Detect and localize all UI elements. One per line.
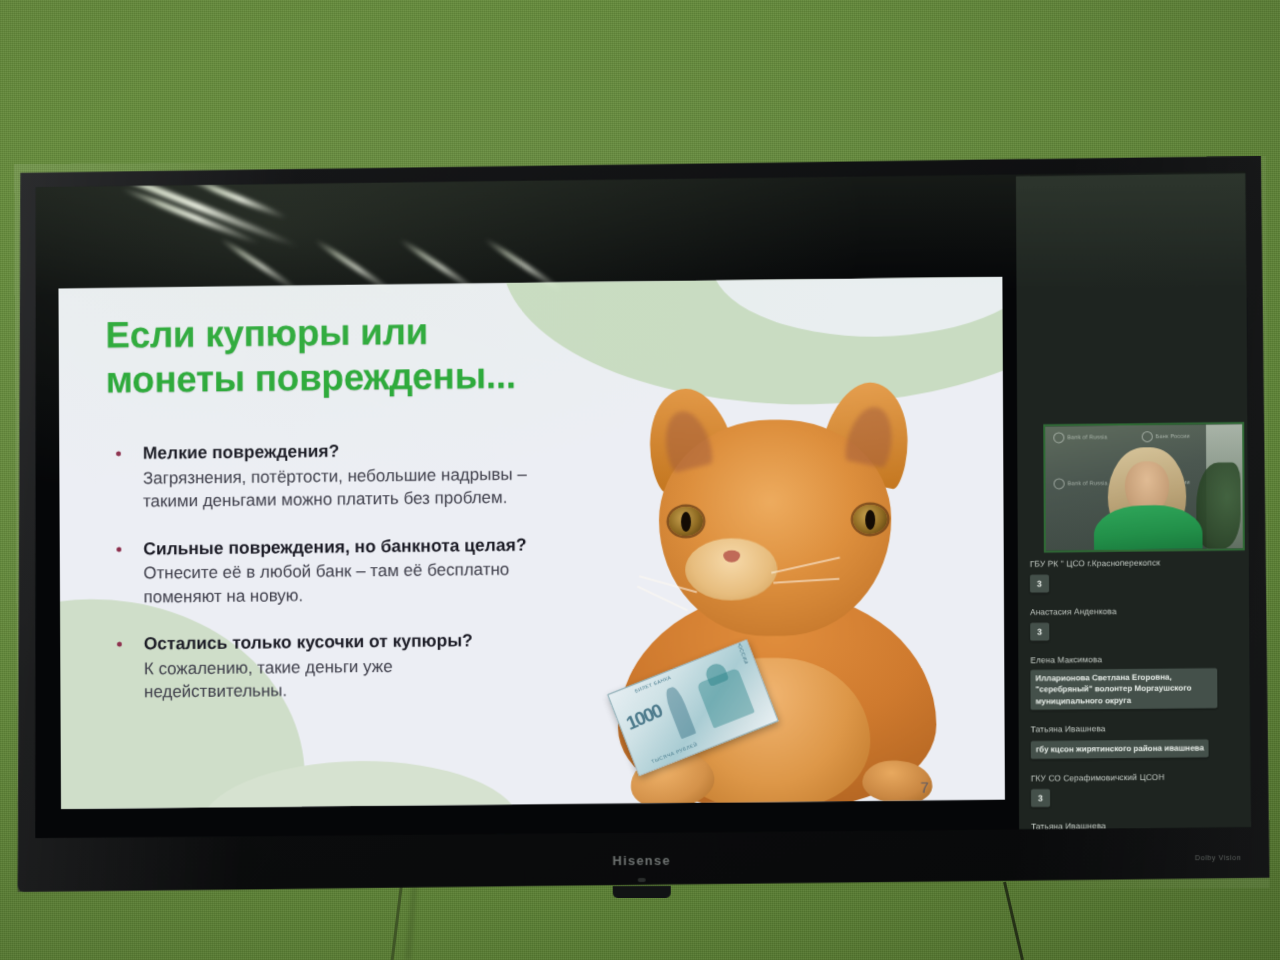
bank-emblem-icon [1053, 432, 1064, 443]
cat-pupil-right [865, 510, 875, 530]
bullet-item: Остались только кусочки от купюры? К сож… [108, 627, 647, 704]
chat-message-bubble[interactable]: 3 [1030, 623, 1049, 641]
chat-author: Елена Максимова [1030, 653, 1238, 665]
glare-streak [120, 185, 261, 246]
room-scene: Если купюры или монеты повреждены... Мел… [0, 0, 1280, 960]
power-cable-left-shadow [406, 886, 417, 960]
slide-page-number: 7 [920, 780, 928, 797]
banknote-monument-figure [663, 685, 697, 739]
chat-item: Татьяна Ивашнева гбу кцсон жирятинского … [1019, 722, 1251, 771]
dolby-vision-logo: Dolby Vision [1195, 855, 1241, 862]
speaker-torso [1094, 505, 1203, 550]
conference-panel: Bank of Russia Банк России Bank of Russi… [1016, 173, 1251, 835]
bullet-dot-icon [117, 642, 122, 647]
chat-message-bubble[interactable]: гбу кцсон жирятинского района ивашнева [1031, 740, 1209, 759]
slide-title: Если купюры или монеты повреждены... [105, 308, 516, 403]
tv-stand-nub [613, 886, 671, 898]
chat-message-bubble[interactable]: 3 [1030, 575, 1049, 593]
bullet-item: Мелкие повреждения? Загрязнения, потёрто… [107, 436, 646, 513]
cat-pupil-left [681, 512, 691, 532]
chat-author: Анастасия Анденкова [1030, 605, 1238, 617]
video-plant-decor [1196, 462, 1241, 549]
bullet-dot-icon [116, 547, 121, 552]
television: Если купюры или монеты повреждены... Мел… [14, 156, 1269, 892]
backdrop-logo-row-top: Bank of Russia Банк России [1053, 431, 1189, 444]
chat-item: Елена Максимова Илларионова Светлана Его… [1018, 653, 1250, 723]
chat-author: ГБУ РК " ЦСО г.Красноперекопск [1030, 557, 1238, 569]
banknote-denomination: 1000 [623, 701, 665, 736]
bullet-dot-icon [116, 451, 121, 456]
power-cable-right [1003, 882, 1024, 960]
chat-item: ГБУ РК " ЦСО г.Красноперекопск 3 [1018, 556, 1250, 605]
chat-item: ГКУ СО Серафимовичский ЦСОН 3 [1019, 771, 1251, 819]
chat-message-bubble[interactable]: 3 [1031, 789, 1050, 807]
chat-author: ГКУ СО Серафимовичский ЦСОН [1031, 771, 1239, 783]
tv-screen: Если купюры или монеты повреждены... Мел… [32, 170, 1251, 838]
chat-item: Анастасия Анденкова 3 [1018, 605, 1250, 654]
presentation-slide: Если купюры или монеты повреждены... Мел… [58, 277, 1004, 809]
bank-of-russia-logo: Bank of Russia [1053, 432, 1107, 444]
power-cable-left [390, 884, 403, 960]
cat-photo: БИЛЕТ БАНКА 1000 БАНК РОССИИ ТЫСЯЧА РУБЛ… [568, 329, 991, 804]
ginger-cat-illustration: БИЛЕТ БАНКА 1000 БАНК РОССИИ ТЫСЯЧА РУБЛ… [610, 376, 942, 804]
bank-emblem-icon [1141, 431, 1152, 442]
bank-of-russia-logo: Bank of Russia [1054, 478, 1108, 490]
bank-emblem-icon [1054, 478, 1065, 489]
tv-power-led [638, 878, 646, 882]
bank-rossii-logo: Банк России [1141, 431, 1189, 443]
bullet-item: Сильные повреждения, но банкнота целая? … [107, 532, 646, 609]
chat-message-list[interactable]: ГБУ РК " ЦСО г.Красноперекопск 3 Анастас… [1018, 556, 1251, 835]
chat-author: Татьяна Ивашнева [1031, 722, 1239, 734]
chat-message-bubble[interactable]: Илларионова Светлана Егоровна, "серебрян… [1030, 668, 1217, 710]
slide-bullet-list: Мелкие повреждения? Загрязнения, потёрто… [107, 436, 647, 728]
video-tile-speaker[interactable]: Bank of Russia Банк России Bank of Russi… [1043, 422, 1245, 553]
